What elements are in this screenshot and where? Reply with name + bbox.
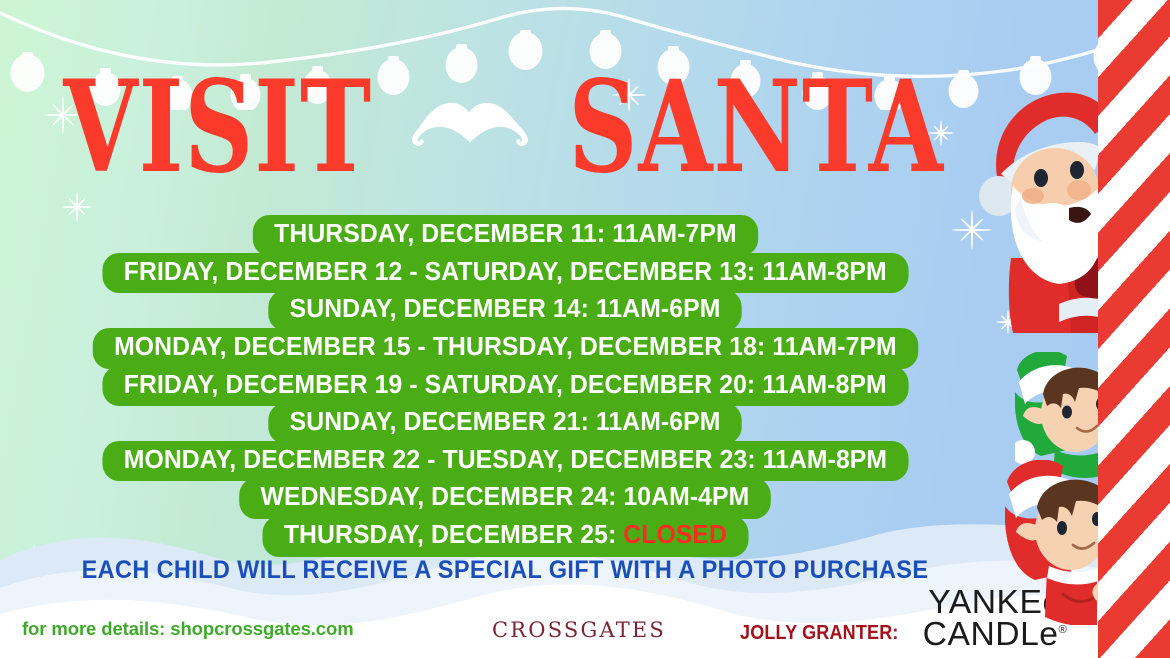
schedule-row-text: SUNDAY, DECEMBER 14: 11AM-6PM <box>290 295 721 323</box>
schedule-row: THURSDAY, DECEMBER 11: 11AM-7PM <box>252 215 757 256</box>
sponsor-label: JOLLY GRANTER: <box>740 622 899 645</box>
tagline: EACH CHILD WILL RECEIVE A SPECIAL GIFT W… <box>30 556 979 585</box>
schedule-row-text: SUNDAY, DECEMBER 21: 11AM-6PM <box>290 408 721 436</box>
schedule-row: FRIDAY, DECEMBER 12 - SATURDAY, DECEMBER… <box>102 253 908 294</box>
title-word-visit: VISIT <box>64 64 373 191</box>
schedule-row: SUNDAY, DECEMBER 14: 11AM-6PM <box>268 290 741 331</box>
schedule-list: THURSDAY, DECEMBER 11: 11AM-7PM FRIDAY, … <box>0 218 1010 557</box>
santa-visit-poster: VISIT SANTA THURSDAY, DECEMBER 11: 11AM-… <box>0 0 1170 658</box>
schedule-row-text: MONDAY, DECEMBER 22 - TUESDAY, DECEMBER … <box>123 446 886 474</box>
candy-cane-stripe-icon <box>1098 0 1170 658</box>
schedule-row-text: FRIDAY, DECEMBER 12 - SATURDAY, DECEMBER… <box>124 258 887 286</box>
poster-title: VISIT SANTA <box>0 72 1010 182</box>
registered-mark-icon: ® <box>1059 624 1068 636</box>
schedule-row: SUNDAY, DECEMBER 21: 11AM-6PM <box>268 403 741 444</box>
schedule-row-text: MONDAY, DECEMBER 15 - THURSDAY, DECEMBER… <box>114 333 897 361</box>
schedule-row-text: THURSDAY, DECEMBER 11: 11AM-7PM <box>274 220 737 248</box>
schedule-row-text: WEDNESDAY, DECEMBER 24: 10AM-4PM <box>261 483 750 511</box>
schedule-row: MONDAY, DECEMBER 15 - THURSDAY, DECEMBER… <box>92 328 917 369</box>
crossgates-logo: CROSSGATES <box>492 618 666 642</box>
schedule-row: FRIDAY, DECEMBER 19 - SATURDAY, DECEMBER… <box>102 366 908 407</box>
details-url[interactable]: for more details: shopcrossgates.com <box>22 618 354 640</box>
schedule-row: WEDNESDAY, DECEMBER 24: 10AM-4PM <box>239 478 770 519</box>
schedule-row: MONDAY, DECEMBER 22 - TUESDAY, DECEMBER … <box>102 441 908 482</box>
schedule-row: THURSDAY, DECEMBER 25: CLOSED <box>262 516 748 557</box>
schedule-row-text: THURSDAY, DECEMBER 25: <box>283 521 622 549</box>
title-word-santa: SANTA <box>568 64 944 191</box>
schedule-row-text: FRIDAY, DECEMBER 19 - SATURDAY, DECEMBER… <box>124 371 887 399</box>
mustache-icon <box>410 99 528 155</box>
status-badge-closed: CLOSED <box>623 521 727 549</box>
